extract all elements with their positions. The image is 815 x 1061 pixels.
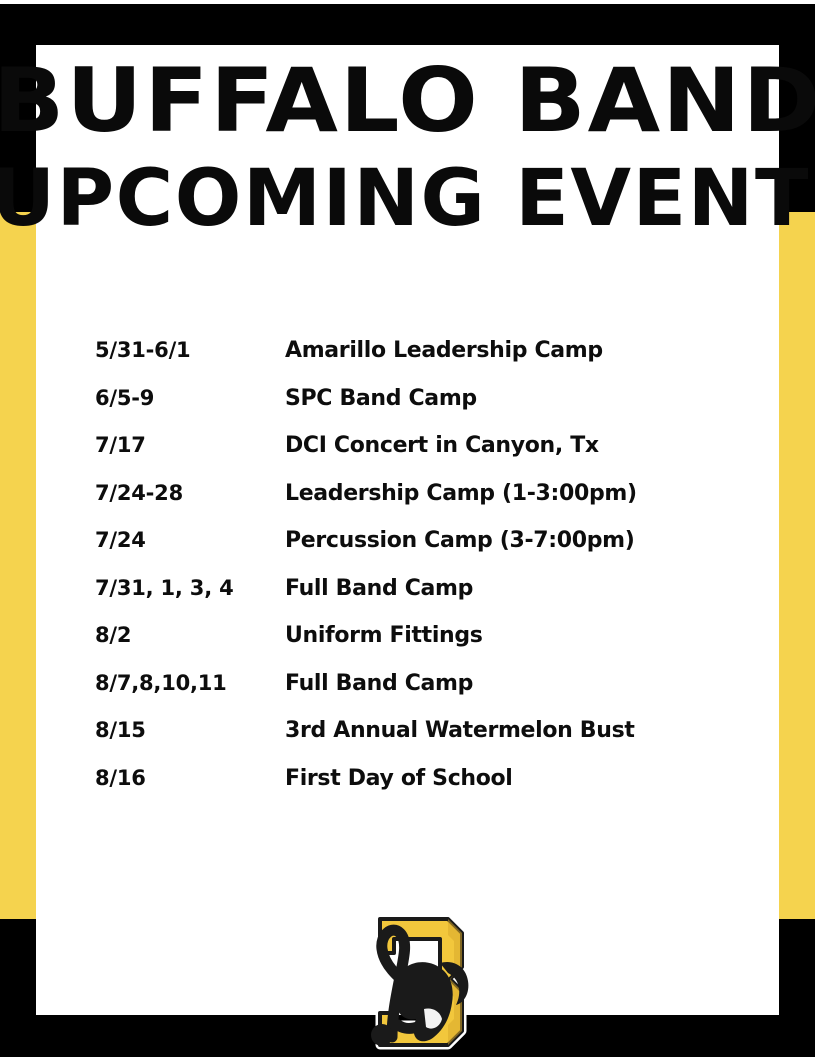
event-list: 5/31-6/1 Amarillo Leadership Camp 6/5-9 …: [95, 338, 735, 813]
event-description: DCI Concert in Canyon, Tx: [285, 433, 735, 458]
event-date: 5/31-6/1: [95, 338, 285, 362]
event-description: 3rd Annual Watermelon Bust: [285, 718, 735, 743]
event-row: 6/5-9 SPC Band Camp: [95, 386, 735, 434]
event-date: 8/7,8,10,11: [95, 671, 285, 695]
event-description: First Day of School: [285, 766, 735, 791]
event-description: Full Band Camp: [285, 576, 735, 601]
event-row: 7/17 DCI Concert in Canyon, Tx: [95, 433, 735, 481]
event-date: 7/24: [95, 528, 285, 552]
title-line-secondary: UPCOMING EVENTS: [0, 159, 815, 237]
event-date: 7/17: [95, 433, 285, 457]
poster: BUFFALO BAND UPCOMING EVENTS 5/31-6/1 Am…: [0, 0, 815, 1061]
event-row: 7/24 Percussion Camp (3-7:00pm): [95, 528, 735, 576]
event-date: 8/16: [95, 766, 285, 790]
event-row: 8/7,8,10,11 Full Band Camp: [95, 671, 735, 719]
buffalo-band-logo: [336, 905, 488, 1057]
event-date: 7/24-28: [95, 481, 285, 505]
event-row: 8/15 3rd Annual Watermelon Bust: [95, 718, 735, 766]
event-date: 6/5-9: [95, 386, 285, 410]
event-row: 8/2 Uniform Fittings: [95, 623, 735, 671]
event-row: 7/24-28 Leadership Camp (1-3:00pm): [95, 481, 735, 529]
event-description: Leadership Camp (1-3:00pm): [285, 481, 735, 506]
event-row: 7/31, 1, 3, 4 Full Band Camp: [95, 576, 735, 624]
event-date: 8/15: [95, 718, 285, 742]
event-date: 7/31, 1, 3, 4: [95, 576, 285, 600]
event-row: 8/16 First Day of School: [95, 766, 735, 814]
event-description: Amarillo Leadership Camp: [285, 338, 735, 363]
accent-band-left: [0, 212, 36, 919]
title-line-primary: BUFFALO BAND: [0, 58, 815, 144]
poster-title: BUFFALO BAND UPCOMING EVENTS: [36, 50, 779, 229]
event-date: 8/2: [95, 623, 285, 647]
event-row: 5/31-6/1 Amarillo Leadership Camp: [95, 338, 735, 386]
event-description: SPC Band Camp: [285, 386, 735, 411]
accent-band-right: [779, 212, 815, 919]
logo-clef-dot: [371, 1024, 393, 1046]
event-description: Full Band Camp: [285, 671, 735, 696]
event-description: Uniform Fittings: [285, 623, 735, 648]
event-description: Percussion Camp (3-7:00pm): [285, 528, 735, 553]
